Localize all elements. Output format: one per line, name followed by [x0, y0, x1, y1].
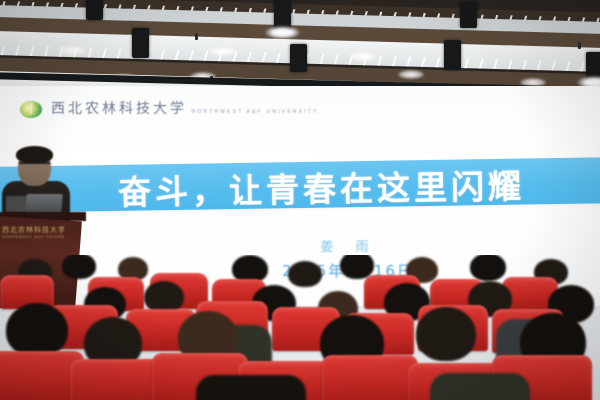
presenter-hair: [16, 146, 53, 163]
auditorium-seat: [322, 355, 418, 400]
ceiling-fixture-stem: [578, 42, 581, 49]
ceiling-spotlight-icon: [444, 40, 461, 70]
audience-member: [288, 261, 322, 287]
ceiling-spotlight-icon: [132, 28, 149, 58]
ceiling-spotlight-icon: [290, 44, 307, 72]
spotlight-glow: [265, 26, 300, 39]
podium-nameplate: 西北农林科技大学 NORTHWEST A&F UNIVERSITY: [2, 226, 64, 239]
podium-nameplate-cn: 西北农林科技大学: [2, 226, 64, 234]
university-emblem-icon: [20, 101, 42, 118]
ceiling-downlight-icon: [60, 46, 86, 55]
audience-area: [0, 255, 600, 400]
university-name-block: 西北农林科技大学 NORTHWEST A&F UNIVERSITY: [51, 100, 319, 118]
slide-title: 奋斗，让青春在这里闪耀: [118, 162, 600, 210]
university-name-en: NORTHWEST A&F UNIVERSITY: [191, 109, 318, 115]
ceiling-spotlight-icon: [586, 52, 600, 82]
ceiling-downlight-icon: [398, 70, 424, 79]
audience-member: [6, 303, 68, 357]
glasses-icon: [19, 162, 50, 170]
audience-member: [470, 255, 506, 281]
university-name-cn: 西北农林科技大学: [51, 101, 187, 117]
audience-member: [416, 307, 476, 361]
auditorium-seat: [70, 359, 164, 400]
university-logo: 西北农林科技大学 NORTHWEST A&F UNIVERSITY: [20, 100, 319, 118]
audience-member: [62, 255, 96, 279]
ceiling-downlight-icon: [210, 47, 236, 56]
slide-speaker-name: 姜 雨: [0, 236, 600, 255]
lecture-hall-photo: 西北农林科技大学 NORTHWEST A&F UNIVERSITY 奋斗，让青春…: [0, 0, 600, 400]
podium-nameplate-en: NORTHWEST A&F UNIVERSITY: [2, 235, 64, 239]
audience-member: [430, 373, 530, 400]
ceiling-fixture-stem: [195, 33, 198, 40]
ceiling-spotlight-icon: [86, 0, 103, 20]
ceiling: [0, 0, 600, 90]
ceiling-spotlight-icon: [274, 0, 291, 32]
audience-member: [196, 375, 306, 400]
ceiling-spotlight-icon: [460, 2, 477, 28]
ceiling-downlight-icon: [350, 52, 376, 61]
